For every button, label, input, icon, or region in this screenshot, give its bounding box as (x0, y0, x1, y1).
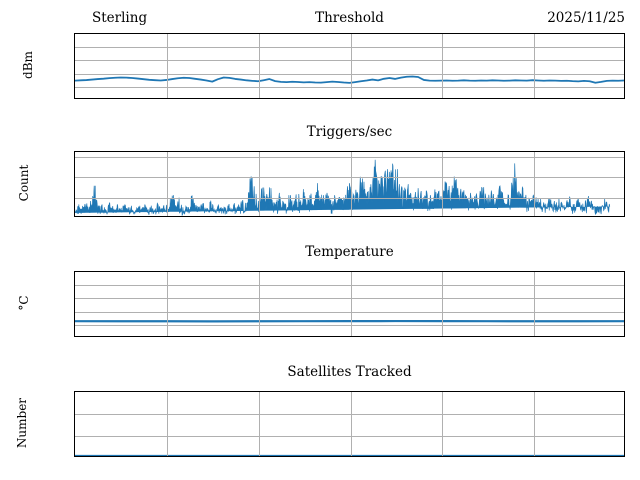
gridline-vertical (534, 392, 535, 456)
gridline-vertical (259, 272, 260, 336)
temperature-plot-area: 04812162024−20020406080 (74, 271, 625, 337)
y-tick-mark (74, 414, 75, 415)
gridline-horizontal (75, 436, 624, 437)
gridline-vertical (442, 152, 443, 216)
figure-title: Threshold (315, 10, 384, 26)
y-tick-mark (74, 324, 75, 325)
x-tick-mark (75, 98, 76, 99)
gridline-vertical (259, 392, 260, 456)
y-tick-mark (74, 47, 75, 48)
y-tick-mark (74, 298, 75, 299)
gridline-vertical (534, 34, 535, 98)
gridline-horizontal (75, 177, 624, 178)
gridline-vertical (167, 392, 168, 456)
temperature-title: Temperature (74, 244, 625, 260)
y-tick-mark (74, 177, 75, 178)
x-tick-mark (442, 456, 443, 457)
gridline-horizontal (75, 298, 624, 299)
gridline-vertical (442, 392, 443, 456)
x-tick-mark (534, 216, 535, 217)
x-tick-mark (442, 336, 443, 337)
gridline-vertical (351, 34, 352, 98)
monitor-figure: Sterling Threshold 2025/11/25 0481216202… (0, 0, 640, 480)
gridline-horizontal (75, 414, 624, 415)
y-tick-mark (74, 73, 75, 74)
y-tick-mark (74, 285, 75, 286)
y-tick-mark (74, 197, 75, 198)
x-tick-mark (350, 336, 351, 337)
gridline-vertical (259, 152, 260, 216)
threshold-plot-area: 04812162024−50−60−70−80−90−100 (74, 33, 625, 99)
y-tick-mark (74, 157, 75, 158)
gridline-horizontal (75, 87, 624, 88)
gridline-horizontal (75, 312, 624, 313)
gridline-vertical (167, 152, 168, 216)
x-tick-mark (166, 98, 167, 99)
x-tick-mark (442, 98, 443, 99)
satellites-plot-area: 0481216202404812 (74, 391, 625, 457)
gridline-vertical (442, 272, 443, 336)
triggers-title: Triggers/sec (74, 124, 625, 140)
gridline-horizontal (75, 198, 624, 199)
y-tick-mark (74, 436, 75, 437)
x-tick-mark (350, 456, 351, 457)
gridline-vertical (351, 392, 352, 456)
gridline-horizontal (75, 157, 624, 158)
x-tick-mark (258, 98, 259, 99)
y-tick-mark (74, 311, 75, 312)
x-tick-mark (75, 456, 76, 457)
y-tick-mark (74, 272, 75, 273)
y-tick-mark (74, 34, 75, 35)
gridline-horizontal (75, 325, 624, 326)
x-tick-mark (75, 216, 76, 217)
x-tick-mark (534, 98, 535, 99)
triggers-ylabel: Count (17, 153, 31, 213)
y-tick-mark (74, 392, 75, 393)
x-tick-mark (258, 216, 259, 217)
x-tick-mark (258, 336, 259, 337)
gridline-horizontal (75, 74, 624, 75)
gridline-vertical (351, 152, 352, 216)
x-tick-mark (166, 336, 167, 337)
x-tick-mark (75, 336, 76, 337)
satellites-ylabel: Number (15, 393, 29, 453)
triggers-plot-area: 0481216202404000800012000 (74, 151, 625, 217)
gridline-vertical (167, 272, 168, 336)
x-tick-mark (166, 216, 167, 217)
gridline-horizontal (75, 60, 624, 61)
triggers-line-series (75, 152, 624, 216)
gridline-vertical (442, 34, 443, 98)
gridline-horizontal (75, 47, 624, 48)
threshold-line-series (75, 34, 624, 98)
x-tick-mark (534, 336, 535, 337)
gridline-vertical (259, 34, 260, 98)
gridline-vertical (534, 272, 535, 336)
figure-date: 2025/11/25 (547, 10, 625, 26)
gridline-vertical (534, 152, 535, 216)
x-tick-mark (166, 456, 167, 457)
y-tick-mark (74, 86, 75, 87)
satellites-title: Satellites Tracked (74, 364, 625, 380)
temperature-ylabel: °C (17, 273, 31, 333)
gridline-horizontal (75, 285, 624, 286)
x-tick-mark (442, 216, 443, 217)
x-tick-mark (534, 456, 535, 457)
station-name: Sterling (92, 10, 147, 26)
satellites-line-series (75, 392, 624, 456)
x-tick-mark (350, 98, 351, 99)
threshold-ylabel: dBm (21, 35, 35, 95)
temperature-line-series (75, 272, 624, 336)
gridline-vertical (351, 272, 352, 336)
x-tick-mark (258, 456, 259, 457)
y-tick-mark (74, 60, 75, 61)
figure-header: Sterling Threshold 2025/11/25 (74, 10, 625, 30)
x-tick-mark (350, 216, 351, 217)
gridline-vertical (167, 34, 168, 98)
